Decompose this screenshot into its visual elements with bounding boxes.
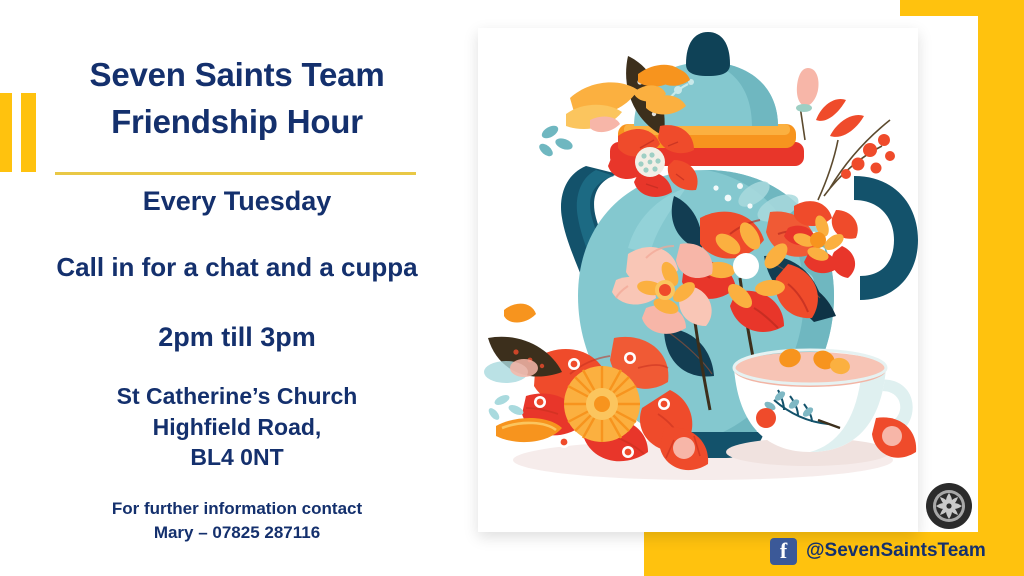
page-title: Seven Saints Team Friendship Hour	[40, 52, 434, 146]
text-column: Seven Saints Team Friendship Hour Every …	[0, 0, 462, 576]
teapot-floral-illustration	[478, 28, 918, 532]
facebook-social-link[interactable]: f @SevenSaintsTeam	[770, 536, 986, 566]
ornamental-rosette-badge	[925, 482, 973, 530]
address-line-1: St Catherine’s Church	[40, 381, 434, 412]
contact-line-1: For further information contact	[40, 497, 434, 521]
facebook-handle[interactable]: @SevenSaintsTeam	[806, 540, 986, 562]
facebook-icon[interactable]: f	[770, 538, 797, 565]
headline-line-1: Seven Saints Team	[40, 52, 434, 99]
contact-details: For further information contact Mary – 0…	[40, 497, 434, 545]
poster-canvas: Seven Saints Team Friendship Hour Every …	[0, 0, 1024, 576]
headline-line-2: Friendship Hour	[40, 99, 434, 146]
address-line-3: BL4 0NT	[40, 442, 434, 473]
facebook-glyph: f	[770, 540, 797, 562]
frame-right-band	[978, 0, 1024, 576]
gold-divider-rule	[55, 172, 416, 175]
frame-top-band	[900, 0, 1024, 16]
event-day: Every Tuesday	[40, 186, 434, 217]
address-line-2: Highfield Road,	[40, 412, 434, 443]
contact-line-2: Mary – 07825 287116	[40, 521, 434, 545]
event-address: St Catherine’s Church Highfield Road, BL…	[40, 381, 434, 473]
event-tagline: Call in for a chat and a cuppa	[20, 252, 454, 283]
event-time: 2pm till 3pm	[40, 322, 434, 353]
